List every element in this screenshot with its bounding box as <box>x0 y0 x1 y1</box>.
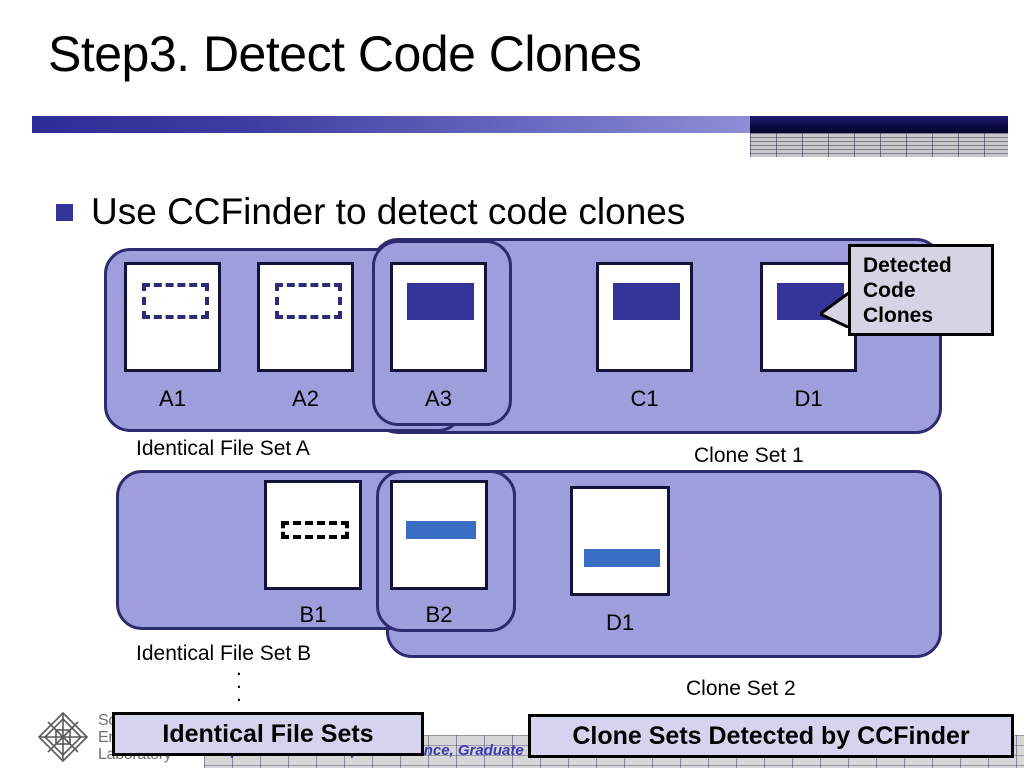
file-card-c1 <box>596 262 693 372</box>
file-label-b2: B2 <box>390 602 488 628</box>
callout-line-3: Clones <box>863 303 991 328</box>
code-fragment-dashed-a2 <box>275 283 342 319</box>
callout-line-2: Code <box>863 278 991 303</box>
legend-identical-file-sets-label: Identical File Sets <box>162 720 373 749</box>
file-label-b1: B1 <box>264 602 362 628</box>
legend-identical-file-sets: Identical File Sets <box>112 712 424 756</box>
file-label-a1: A1 <box>124 386 221 412</box>
file-label-c1: C1 <box>596 386 693 412</box>
clone-detection-diagram: A1 A2 A3 C1 D1 Identical File Set A Clon… <box>0 0 1024 768</box>
lab-logo-diamond-icon <box>36 710 90 764</box>
code-clone-fragment-c1 <box>613 283 680 320</box>
file-label-a2: A2 <box>257 386 354 412</box>
file-card-b2 <box>390 480 488 590</box>
file-card-a2 <box>257 262 354 372</box>
continuation-ellipsis: . . . <box>236 662 242 701</box>
caption-clone-set-1: Clone Set 1 <box>694 443 804 468</box>
file-card-a3 <box>390 262 487 372</box>
legend-clone-sets-label: Clone Sets Detected by CCFinder <box>572 722 969 751</box>
file-card-d1-row2 <box>570 486 670 596</box>
code-clone-fragment-b2 <box>406 521 476 539</box>
detected-code-clones-callout: Detected Code Clones <box>848 244 994 336</box>
file-card-a1 <box>124 262 221 372</box>
caption-clone-set-2: Clone Set 2 <box>686 676 796 701</box>
code-clone-fragment-d1-row2 <box>584 549 660 567</box>
file-card-b1 <box>264 480 362 590</box>
callout-line-1: Detected <box>863 253 991 278</box>
file-label-d1-row1: D1 <box>760 386 857 412</box>
file-label-a3: A3 <box>390 386 487 412</box>
file-label-d1-row2: D1 <box>570 610 670 636</box>
code-fragment-dashed-a1 <box>142 283 209 319</box>
legend-clone-sets: Clone Sets Detected by CCFinder <box>528 714 1014 758</box>
code-clone-fragment-a3 <box>407 283 474 320</box>
caption-identical-file-set-b: Identical File Set B <box>136 641 311 666</box>
caption-identical-file-set-a: Identical File Set A <box>136 436 310 461</box>
ellipsis-dot-3: . <box>236 688 242 701</box>
code-fragment-dashed-b1 <box>281 521 349 539</box>
